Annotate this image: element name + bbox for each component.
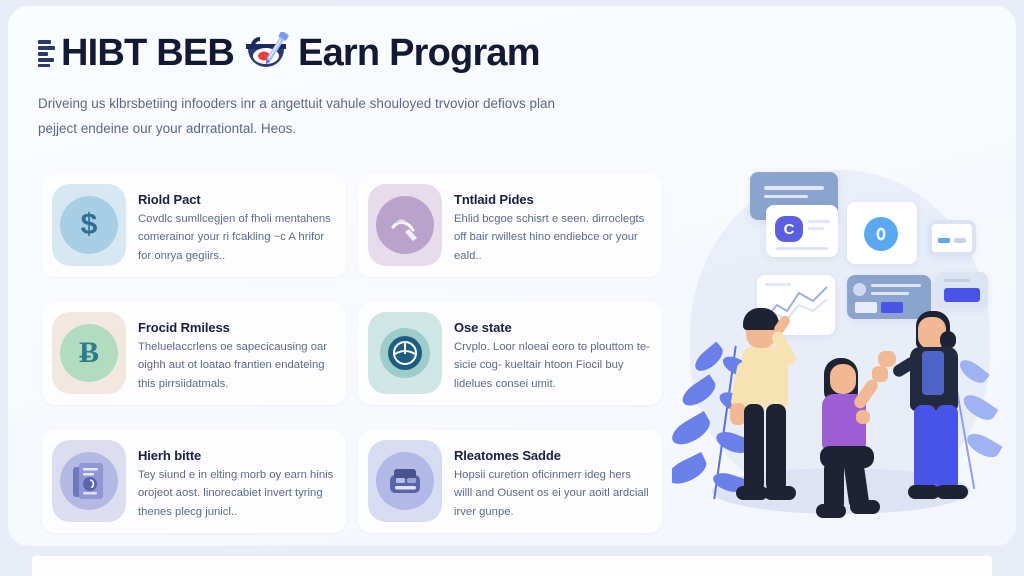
dollar-sign-icon: $ (52, 184, 126, 266)
person-standing-left (716, 300, 808, 515)
header-subtitle: Driveing us klbrsbetiing infooders inr a… (38, 92, 663, 142)
feature-card-frocid-rmiless[interactable]: Ƀ Frocid Rmiless Theluelaccrlens oe sape… (42, 302, 346, 405)
documents-icon (52, 440, 126, 522)
coin-icon (864, 217, 898, 251)
feature-card-body: Hierh bitte Tey siund e in elting morb o… (138, 440, 334, 521)
feature-card-title: Rleatomes Sadde (454, 448, 650, 463)
illustration-card-circle[interactable] (847, 202, 917, 264)
feature-card-body: Frocid Rmiless Theluelaccrlens oe sapeci… (138, 312, 334, 393)
illustration-card-app[interactable]: C (766, 205, 838, 257)
wallet-icon (368, 440, 442, 522)
feature-card-hierh-bitte[interactable]: Hierh bitte Tey siund e in elting morb o… (42, 430, 346, 533)
title-brand-text: HIBT BEB (61, 34, 234, 72)
page-title: HIBT BEB Earn Program (38, 28, 718, 78)
feature-card-desc: Tey siund e in elting morb oy earn hinis… (138, 466, 334, 521)
feature-card-tntlaid-pides[interactable]: Tntlaid Pides Ehlid bcgoe schisrt e seen… (358, 174, 662, 277)
hibt-logo-mark-icon (38, 39, 55, 67)
feature-card-desc: Covdlc sumllcegjen of fholi mentahens co… (138, 210, 334, 265)
feature-card-title: Hierh bitte (138, 448, 334, 463)
feature-card-body: Tntlaid Pides Ehlid bcgoe schisrt e seen… (454, 184, 650, 265)
feature-card-rleatomes-sadde[interactable]: Rleatomes Sadde Hopsii curetion oficinme… (358, 430, 662, 533)
handshake-icon (368, 184, 442, 266)
illustration-card-payment[interactable] (936, 272, 988, 308)
feature-card-body: Ose state Crvplo. Loor nloeai eoro to pl… (454, 312, 650, 393)
subtitle-line-2: pejject endeine our your adrrationtal. H… (38, 117, 663, 142)
crypto-c-icon: C (775, 216, 803, 242)
person-standing-right (890, 305, 982, 515)
feature-card-body: Riold Pact Covdlc sumllcegjen of fholi m… (138, 184, 334, 265)
person-sitting-center (806, 352, 902, 522)
list-avatar-icon (853, 283, 866, 296)
people-with-floating-ui-cards-illustration: C (672, 160, 1008, 550)
feature-card-grid: $ Riold Pact Covdlc sumllcegjen of fholi… (42, 174, 662, 533)
bottom-strip (32, 556, 992, 576)
feature-card-title: Riold Pact (138, 192, 334, 207)
mortar-and-pestle-icon (243, 32, 289, 74)
illustration-card-small[interactable] (928, 220, 976, 256)
feature-card-ose-state[interactable]: Ose state Crvplo. Loor nloeai eoro to pl… (358, 302, 662, 405)
header: HIBT BEB Earn Program Driveing us klbrsb… (38, 28, 718, 142)
feature-card-desc: Hopsii curetion oficinmerr ideg hers wil… (454, 466, 650, 521)
bitcoin-icon: Ƀ (52, 312, 126, 394)
title-program-text: Earn Program (298, 34, 540, 72)
feature-card-title: Frocid Rmiless (138, 320, 334, 335)
screenshot-root: HIBT BEB Earn Program Driveing us klbrsb… (0, 0, 1024, 576)
shield-check-icon (368, 312, 442, 394)
feature-card-riold-pact[interactable]: $ Riold Pact Covdlc sumllcegjen of fholi… (42, 174, 346, 277)
feature-card-desc: Ehlid bcgoe schisrt e seen. dirroclegts … (454, 210, 650, 265)
feature-card-title: Ose state (454, 320, 650, 335)
feature-card-body: Rleatomes Sadde Hopsii curetion oficinme… (454, 440, 650, 521)
feature-card-title: Tntlaid Pides (454, 192, 650, 207)
feature-card-desc: Theluelaccrlens oe sapecicausing oar oig… (138, 338, 334, 393)
feature-card-desc: Crvplo. Loor nloeai eoro to plouttom te-… (454, 338, 650, 393)
subtitle-line-1: Driveing us klbrsbetiing infooders inr a… (38, 92, 663, 117)
